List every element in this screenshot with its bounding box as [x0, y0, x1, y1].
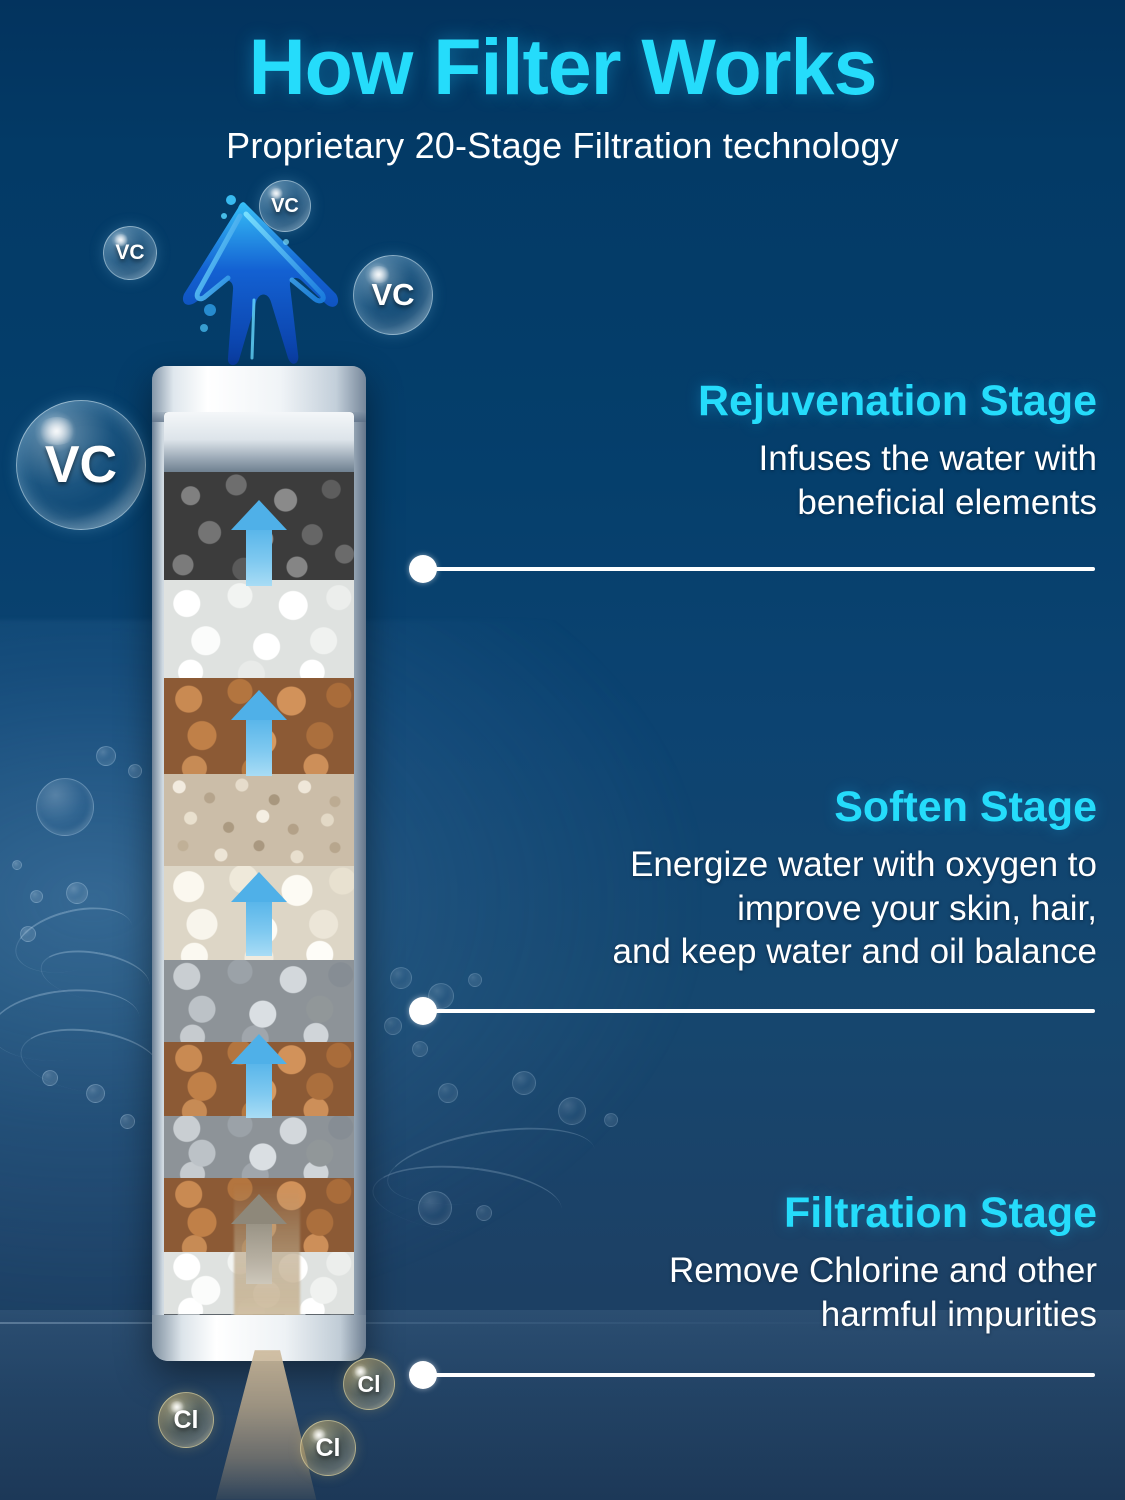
connector-dot [409, 997, 437, 1025]
vitamin-c-bubble: VC [353, 255, 433, 335]
chlorine-bubble: Cl [343, 1358, 395, 1410]
connector-line [435, 1009, 1095, 1013]
bubble-highlight [311, 1429, 327, 1441]
bubble-highlight [269, 188, 284, 199]
connector-soften [409, 997, 1099, 1025]
stage-description-line: Energize water with oxygen to [397, 843, 1097, 886]
page-title: How Filter Works [0, 26, 1125, 109]
flow-arrow-up-unfiltered [231, 1194, 287, 1284]
stage-block-rejuvenation: Rejuvenation Stage Infuses the water wit… [397, 378, 1097, 524]
connector-line [435, 567, 1095, 571]
water-splash-texture-left [0, 740, 170, 1210]
stage-block-filtration: Filtration Stage Remove Chlorine and oth… [397, 1190, 1097, 1336]
flow-arrow-up [231, 690, 287, 776]
media-layer-top-gap [164, 412, 354, 472]
flow-arrow-up [231, 500, 287, 586]
media-layer-tan-gravel [164, 774, 354, 866]
vitamin-c-bubble: VC [103, 226, 157, 280]
stage-description-line: beneficial elements [397, 481, 1097, 524]
stage-heading: Rejuvenation Stage [397, 378, 1097, 425]
media-layer-white-beads [164, 580, 354, 678]
connector-dot [409, 1361, 437, 1389]
connector-line [435, 1373, 1095, 1377]
stage-description-line: improve your skin, hair, [397, 887, 1097, 930]
stage-description-line: harmful impurities [397, 1293, 1097, 1336]
media-layer-gray-granules [164, 960, 354, 1042]
stage-description: Energize water with oxygen to improve yo… [397, 843, 1097, 973]
bubble-highlight [37, 417, 77, 445]
filter-cartridge [152, 366, 366, 1361]
stage-block-soften: Soften Stage Energize water with oxygen … [397, 784, 1097, 973]
chlorine-bubble: Cl [158, 1392, 214, 1448]
vitamin-c-bubble: VC [16, 400, 146, 530]
stage-description-line: Infuses the water with [397, 437, 1097, 480]
vitamin-c-bubble: VC [259, 180, 311, 232]
connector-dot [409, 555, 437, 583]
stage-description: Infuses the water with beneficial elemen… [397, 437, 1097, 524]
bubble-highlight [169, 1401, 185, 1413]
chlorine-bubble: Cl [300, 1420, 356, 1476]
media-layer-gray-white-mix [164, 1116, 354, 1178]
stage-description: Remove Chlorine and other harmful impuri… [397, 1249, 1097, 1336]
stage-heading: Soften Stage [397, 784, 1097, 831]
stage-heading: Filtration Stage [397, 1190, 1097, 1237]
bubble-highlight [353, 1366, 368, 1377]
cartridge-core [164, 412, 354, 1344]
flow-arrow-up [231, 1034, 287, 1118]
stage-description-line: and keep water and oil balance [397, 930, 1097, 973]
connector-filtration [409, 1361, 1099, 1389]
flow-arrow-up [231, 872, 287, 956]
header: How Filter Works Proprietary 20-Stage Fi… [0, 26, 1125, 167]
stage-description-line: Remove Chlorine and other [397, 1249, 1097, 1292]
infographic-canvas: How Filter Works Proprietary 20-Stage Fi… [0, 0, 1125, 1500]
bubble-highlight [113, 234, 129, 246]
connector-rejuvenation [409, 555, 1099, 583]
page-subtitle: Proprietary 20-Stage Filtration technolo… [0, 125, 1125, 167]
bubble-highlight [367, 266, 391, 283]
